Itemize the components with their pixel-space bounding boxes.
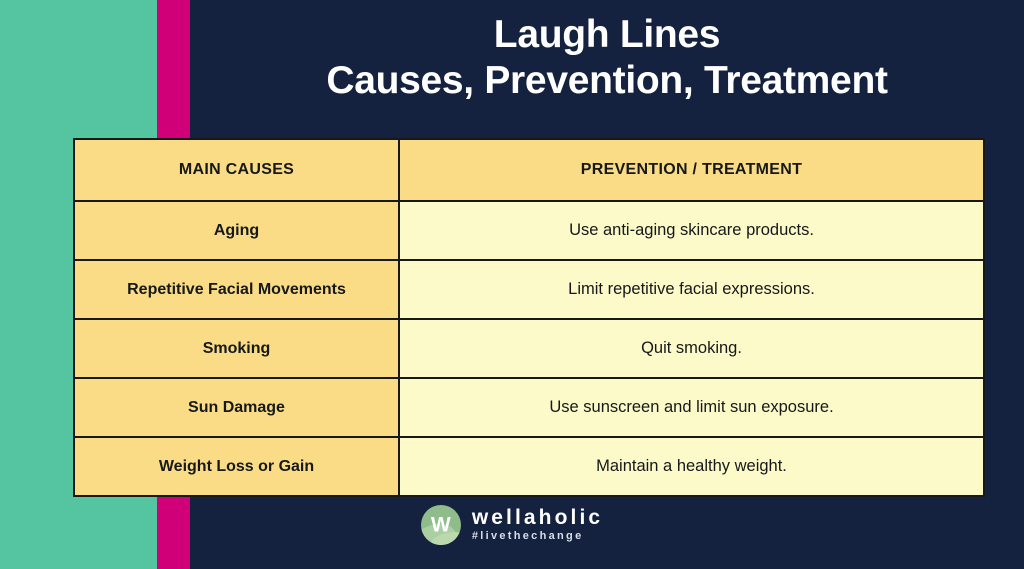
table-row: Weight Loss or Gain Maintain a healthy w… <box>74 437 984 496</box>
header-main-causes: MAIN CAUSES <box>74 139 399 201</box>
cause-cell: Sun Damage <box>74 378 399 437</box>
brand-text-block: wellaholic #livethechange <box>472 507 603 543</box>
header-prevention-treatment: PREVENTION / TREATMENT <box>399 139 984 201</box>
table-row: Smoking Quit smoking. <box>74 319 984 378</box>
infographic-canvas: Laugh Lines Causes, Prevention, Treatmen… <box>0 0 1024 569</box>
wellaholic-logo-icon: W <box>421 505 461 545</box>
cause-cell: Aging <box>74 201 399 260</box>
action-cell: Maintain a healthy weight. <box>399 437 984 496</box>
brand-tagline: #livethechange <box>472 529 603 543</box>
cause-cell: Weight Loss or Gain <box>74 437 399 496</box>
action-cell: Use sunscreen and limit sun exposure. <box>399 378 984 437</box>
table-row: Sun Damage Use sunscreen and limit sun e… <box>74 378 984 437</box>
logo-letter-w: W <box>421 515 461 536</box>
title-line-2: Causes, Prevention, Treatment <box>190 58 1024 104</box>
table-header-row: MAIN CAUSES PREVENTION / TREATMENT <box>74 139 984 201</box>
title-line-1: Laugh Lines <box>190 12 1024 58</box>
page-title: Laugh Lines Causes, Prevention, Treatmen… <box>190 12 1024 104</box>
cause-cell: Repetitive Facial Movements <box>74 260 399 319</box>
causes-treatment-table: MAIN CAUSES PREVENTION / TREATMENT Aging… <box>73 138 985 497</box>
table-row: Repetitive Facial Movements Limit repeti… <box>74 260 984 319</box>
causes-treatment-table-wrapper: MAIN CAUSES PREVENTION / TREATMENT Aging… <box>73 138 947 497</box>
action-cell: Quit smoking. <box>399 319 984 378</box>
action-cell: Use anti-aging skincare products. <box>399 201 984 260</box>
cause-cell: Smoking <box>74 319 399 378</box>
brand-name: wellaholic <box>472 507 603 529</box>
table-row: Aging Use anti-aging skincare products. <box>74 201 984 260</box>
brand-footer: W wellaholic #livethechange <box>0 505 1024 545</box>
action-cell: Limit repetitive facial expressions. <box>399 260 984 319</box>
